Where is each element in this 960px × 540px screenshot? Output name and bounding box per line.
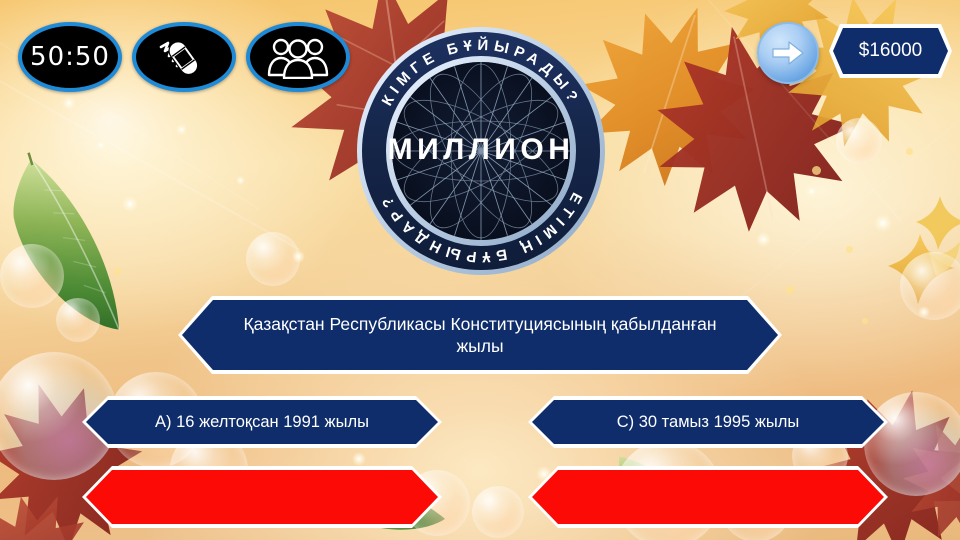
audience-icon xyxy=(267,35,329,79)
answer-d-body xyxy=(532,470,884,524)
telephone-icon xyxy=(154,34,214,80)
answer-a-body: А) 16 желтоқсан 1991 жылы xyxy=(86,400,438,444)
answer-option-c[interactable]: С) 30 тамыз 1995 жылы xyxy=(528,396,888,448)
prize-badge: $16000 xyxy=(833,28,948,74)
question-panel: Қазақстан Республикасы Конституциясының … xyxy=(178,296,782,374)
logo-center-text: МИЛЛИОН xyxy=(388,133,575,166)
question-panel-body: Қазақстан Республикасы Конституциясының … xyxy=(182,300,778,370)
answer-option-a[interactable]: А) 16 желтоқсан 1991 жылы xyxy=(82,396,442,448)
answer-b-body xyxy=(86,470,438,524)
lifeline-ask-the-audience[interactable] xyxy=(246,22,350,92)
lifeline-fifty-fifty[interactable]: 50:50 xyxy=(18,22,122,92)
answer-option-b[interactable] xyxy=(82,466,442,528)
slide-canvas: 50:50 xyxy=(0,0,960,540)
answer-a-text: А) 16 желтоқсан 1991 жылы xyxy=(155,413,369,432)
question-text: Қазақстан Республикасы Конституциясының … xyxy=(182,313,778,358)
prize-amount: $16000 xyxy=(859,40,922,62)
lifelines-bar: 50:50 xyxy=(18,22,350,92)
lifeline-phone-a-friend[interactable] xyxy=(132,22,236,92)
next-question-button[interactable] xyxy=(757,22,819,84)
answer-option-d[interactable] xyxy=(528,466,888,528)
answer-c-text: С) 30 тамыз 1995 жылы xyxy=(617,413,800,432)
arrow-right-icon xyxy=(771,39,805,67)
answer-c-body: С) 30 тамыз 1995 жылы xyxy=(532,400,884,444)
fifty-fifty-icon: 50:50 xyxy=(30,42,110,72)
show-logo: КІМГЕ БҰЙЫРАДЫ? ЕТІМІҢ БҰРЫНДАР? МИЛЛИОН xyxy=(352,22,610,280)
